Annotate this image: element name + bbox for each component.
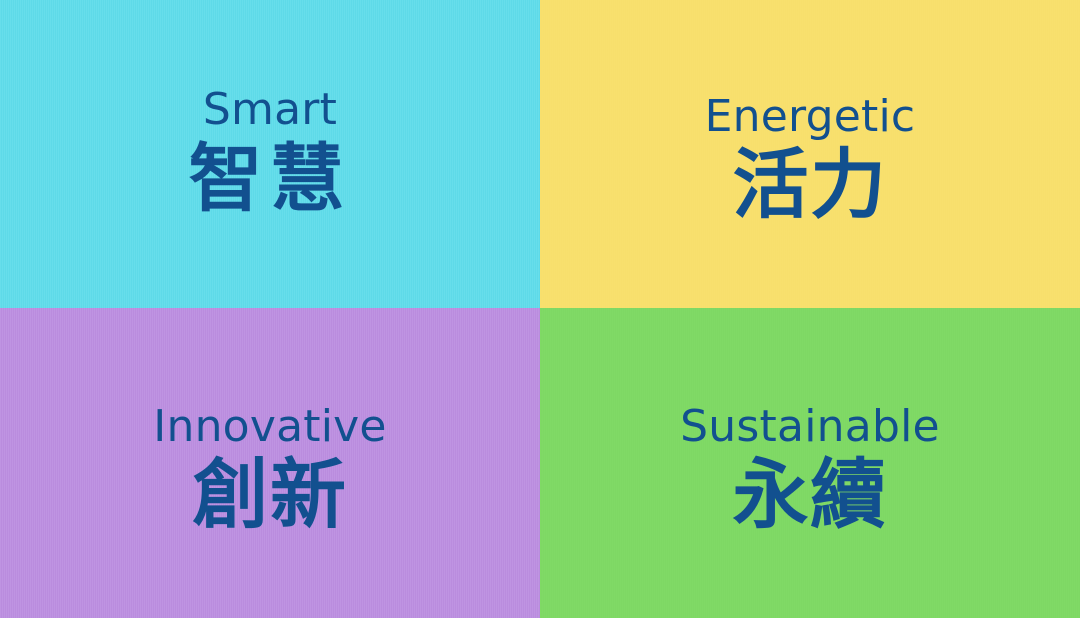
- quadrant-energetic-textblock: Energetic 活力: [705, 95, 916, 223]
- quadrant-innovative-chinese-label: 創新: [153, 457, 386, 533]
- quadrant-smart-chinese-label: 智慧: [189, 142, 352, 216]
- quadrant-grid: Smart 智慧 Energetic 活力 Innovative 創新 Sust…: [0, 0, 1080, 618]
- quadrant-sustainable-chinese-label: 永續: [680, 457, 940, 533]
- quadrant-sustainable: Sustainable 永續: [540, 308, 1080, 618]
- quadrant-energetic-english-label: Energetic: [705, 95, 916, 139]
- quadrant-sustainable-textblock: Sustainable 永續: [680, 405, 940, 533]
- quadrant-sustainable-english-label: Sustainable: [680, 405, 940, 449]
- quadrant-smart-english-label: Smart: [189, 88, 352, 132]
- quadrant-smart: Smart 智慧: [0, 0, 540, 308]
- quadrant-innovative-english-label: Innovative: [153, 405, 386, 449]
- quadrant-innovative: Innovative 創新: [0, 308, 540, 618]
- brand-values-graphic: Smart 智慧 Energetic 活力 Innovative 創新 Sust…: [0, 0, 1080, 618]
- quadrant-smart-textblock: Smart 智慧: [189, 88, 352, 216]
- quadrant-energetic: Energetic 活力: [540, 0, 1080, 308]
- quadrant-innovative-textblock: Innovative 創新: [153, 405, 386, 533]
- quadrant-energetic-chinese-label: 活力: [705, 147, 916, 223]
